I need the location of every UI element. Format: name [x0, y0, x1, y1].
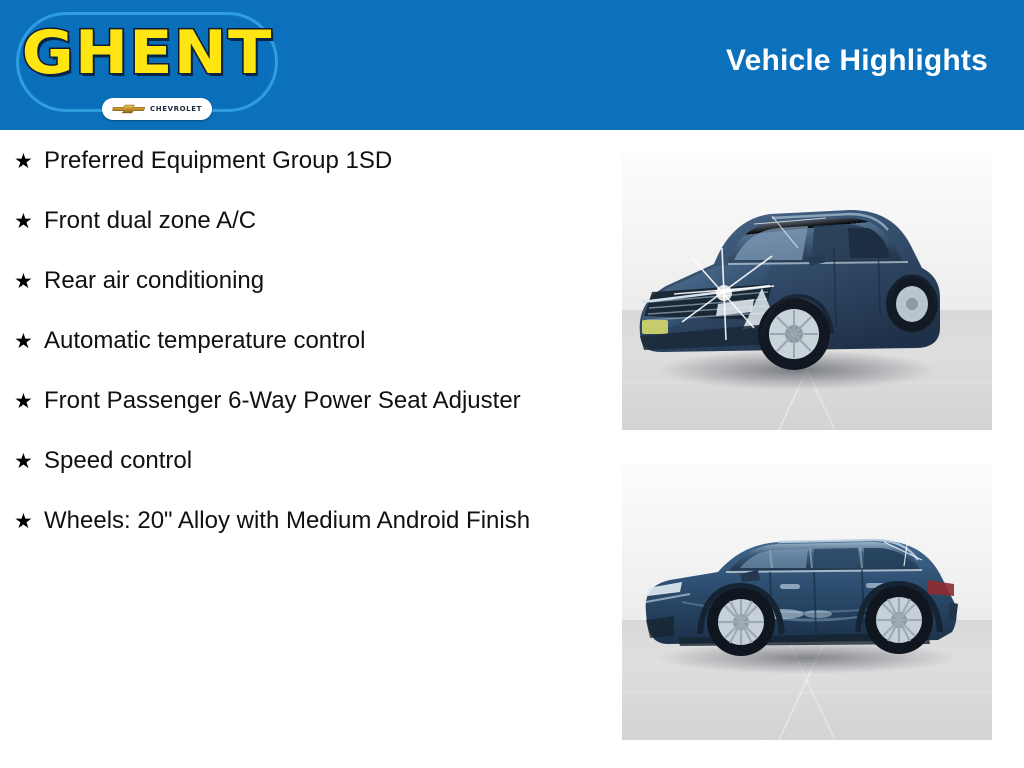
star-bullet-icon: ★ [14, 504, 44, 538]
suv-front-quarter-illustration [622, 152, 992, 430]
suv-side-profile-illustration [622, 462, 992, 740]
chevrolet-bowtie-icon [112, 103, 146, 115]
star-bullet-icon: ★ [14, 384, 44, 418]
star-bullet-icon: ★ [14, 444, 44, 478]
vehicle-photo-side-profile[interactable] [622, 462, 992, 740]
star-bullet-icon: ★ [14, 204, 44, 238]
feature-label: Speed control [44, 444, 574, 478]
page-title: Vehicle Highlights [726, 44, 988, 78]
page-content: ★ Preferred Equipment Group 1SD ★ Front … [0, 130, 1024, 768]
star-bullet-icon: ★ [14, 264, 44, 298]
feature-label: Front Passenger 6-Way Power Seat Adjuste… [44, 384, 574, 418]
vehicle-photo-front-three-quarter[interactable] [622, 152, 992, 430]
list-item: ★ Speed control [0, 444, 600, 478]
dealer-wordmark: GHENT [8, 18, 286, 88]
list-item: ★ Automatic temperature control [0, 324, 600, 358]
list-item: ★ Front dual zone A/C [0, 204, 600, 238]
star-bullet-icon: ★ [14, 324, 44, 358]
star-bullet-icon: ★ [14, 144, 44, 178]
feature-label: Front dual zone A/C [44, 204, 574, 238]
list-item: ★ Front Passenger 6-Way Power Seat Adjus… [0, 384, 600, 418]
feature-label: Rear air conditioning [44, 264, 574, 298]
vehicle-feature-list: ★ Preferred Equipment Group 1SD ★ Front … [0, 144, 600, 564]
feature-label: Preferred Equipment Group 1SD [44, 144, 574, 178]
vehicle-highlights-page: GHENT CHEVROLET Vehicle Highlights [0, 0, 1024, 768]
list-item: ★ Rear air conditioning [0, 264, 600, 298]
list-item: ★ Wheels: 20" Alloy with Medium Android … [0, 504, 600, 538]
list-item: ★ Preferred Equipment Group 1SD [0, 144, 600, 178]
feature-label: Automatic temperature control [44, 324, 574, 358]
page-header: GHENT CHEVROLET Vehicle Highlights [0, 0, 1024, 130]
chevrolet-badge: CHEVROLET [102, 98, 212, 120]
feature-label: Wheels: 20" Alloy with Medium Android Fi… [44, 504, 574, 538]
dealer-logo[interactable]: GHENT CHEVROLET [16, 10, 284, 122]
chevrolet-badge-label: CHEVROLET [150, 105, 202, 113]
